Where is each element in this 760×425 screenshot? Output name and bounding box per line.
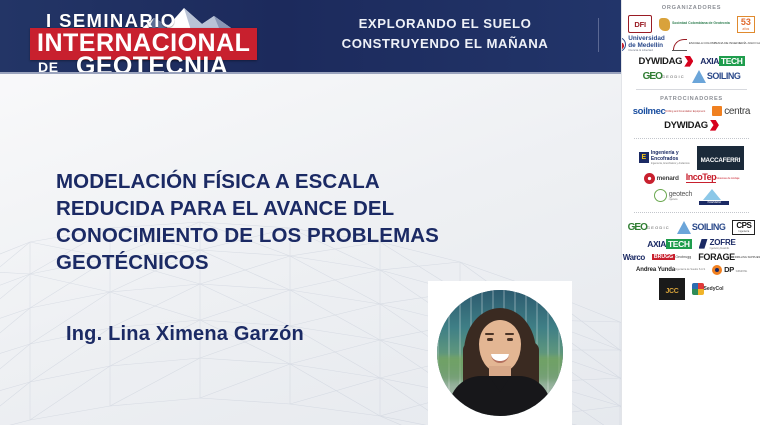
logo-dp-surveying[interactable]: DP SURVEYING (712, 265, 747, 275)
sedycol-square-icon (692, 283, 704, 295)
logo-soiling2-label: SOILING (692, 222, 726, 232)
portrait-eye-right (507, 338, 513, 341)
logo-ingenc-label: Ingeniería y Encofrados Ingeniería, Enco… (651, 150, 690, 165)
organizer-row: DFI Sociedad Colombiana de Geotecnia 53 … (622, 15, 760, 33)
logo-brugg-label: BRUGG (652, 254, 675, 260)
logo-warco-label: Warco (623, 253, 645, 262)
speaker-portrait-card (428, 281, 572, 425)
logo-53-sub: años (741, 27, 751, 31)
dywidag-arrow-icon (684, 56, 693, 67)
logo-forage[interactable]: FORAGE DRILLING SUPPLIES (698, 253, 760, 262)
logo-geodic-sponsor[interactable]: GEO GEODIC (628, 222, 670, 233)
logo-soiling[interactable]: SOILING (692, 70, 741, 83)
sponsor-tier-divider (634, 138, 749, 139)
logo-andrea-label: Andrea Yunda (636, 267, 675, 273)
logo-53-anos[interactable]: 53 años (737, 16, 755, 33)
sponsors-sidebar: ORGANIZADORES DFI Sociedad Colombiana de… (621, 0, 760, 425)
jcc-box: JCC (659, 278, 684, 300)
curve-icon (672, 38, 687, 51)
geotech-circle-icon (654, 189, 667, 202)
logo-sedycol[interactable]: SedyCol (692, 283, 724, 295)
tagline-line-2: CONSTRUYENDO EL MAÑANA (300, 34, 590, 54)
logo-zofre[interactable]: ZOFRE Ingeniería y Desarrollo (699, 238, 736, 250)
portrait-eye-left (487, 338, 493, 341)
sponsor-tier-divider (634, 212, 749, 213)
logo-incotep-label: IncoTep (686, 173, 716, 183)
title-line-3: CONOCIMIENTO DE LOS PROBLEMAS (56, 222, 476, 249)
logo-maccaferri-label: MACCAFERRI (701, 157, 741, 164)
organizer-row: GEO GEODIC SOILING (622, 70, 760, 83)
sponsors-heading: PATROCINADORES (622, 96, 760, 102)
sponsor-row: AXIA TECH ZOFRE Ingeniería y Desarrollo (622, 238, 760, 250)
tagline-line-1: EXPLORANDO EL SUELO (300, 14, 590, 34)
logo-geodic-sub: GEODIC (662, 74, 685, 79)
university-seal-icon (621, 37, 626, 52)
logo-ingenc-sub: Ingeniería, Encofrados y Andamios (651, 162, 690, 165)
logo-cps-label: CPS (736, 222, 751, 230)
menard-circle-icon (644, 173, 655, 184)
logo-dywidag-label: DYWIDAG (638, 56, 682, 67)
logo-zofre-sub: Ingeniería y Desarrollo (710, 247, 736, 250)
logo-geotech-sub: ingeniería (669, 198, 693, 201)
logo-maccaferri[interactable]: MACCAFERRI (697, 146, 745, 170)
logo-warco[interactable]: Warco (623, 253, 645, 262)
logo-axiatech-sponsor[interactable]: AXIA TECH (647, 239, 691, 249)
logo-soilmec-label: soilmec (633, 106, 666, 117)
logo-escuela-colombiana-ingenieria[interactable]: ESCUELA COLOMBIANA DE INGENIERÍA JULIO G… (672, 38, 760, 51)
zofre-slash-icon (699, 239, 708, 249)
logo-menard-label: menard (657, 175, 679, 182)
sponsor-row: JCC SedyCol (622, 278, 760, 300)
logo-zofre-text: ZOFRE (710, 238, 736, 247)
speaker-portrait-photo (437, 290, 563, 416)
logo-axiatech-label2: TECH (719, 56, 745, 66)
portrait-eyebrow-right (505, 333, 514, 335)
logo-soilmec-sub: Drilling and Foundation Equipment (665, 110, 705, 113)
slide-main-area: I SEMINARIO INTERNACIONAL DE GEOTECNIA E… (0, 0, 621, 425)
logo-soiling-sponsor[interactable]: SOILING (677, 221, 726, 234)
logo-geotech[interactable]: geotech ingeniería (654, 189, 693, 202)
organizer-row: DYWIDAG AXIA TECH (622, 56, 760, 67)
mountain-peak-icon (703, 189, 721, 200)
logo-geodic2-sub: GEODIC (647, 225, 670, 230)
logo-dp-label: DP SURVEYING (724, 265, 747, 274)
logo-geodic2-label: GEO (628, 222, 647, 233)
logo-dywidag[interactable]: DYWIDAG (638, 56, 693, 67)
logo-centra-label: centra (724, 106, 750, 117)
logo-dfi-label: DFI (634, 20, 645, 29)
logo-andrea-sub: Ingeniería de Suelos S.A.S (675, 268, 705, 271)
header-underline (0, 72, 621, 74)
logo-centra[interactable]: centra (712, 106, 750, 117)
logo-axiatech2-label2: TECH (666, 239, 692, 249)
portrait-eyebrow-left (485, 333, 494, 335)
dfi-icon: DFI (628, 15, 652, 33)
section-divider (636, 89, 747, 90)
logo-jcc-label: JCC (665, 288, 678, 295)
organizers-heading: ORGANIZADORES (622, 5, 760, 11)
event-logo-lockup: I SEMINARIO INTERNACIONAL DE GEOTECNIA (24, 4, 256, 70)
logo-53-number: 53 (741, 18, 751, 27)
sponsor-row: Warco BRUGG Geobrugg FORAGE DRILLING SUP… (622, 253, 760, 262)
logo-dywidag-sponsor[interactable]: DYWIDAG (664, 120, 719, 131)
logo-line-geotecnia: GEOTECNIA (76, 52, 228, 72)
logo-axiatech2-label: AXIA (647, 239, 666, 249)
dywidag-arrow-icon (710, 120, 719, 131)
logo-menard[interactable]: menard (644, 173, 679, 184)
logo-geotech-label: geotech ingeniería (669, 191, 693, 201)
title-line-1: MODELACIÓN FÍSICA A ESCALA (56, 168, 476, 195)
event-tagline: EXPLORANDO EL SUELO CONSTRUYENDO EL MAÑA… (300, 14, 590, 54)
logo-cps-sub: Ingeniería (736, 230, 751, 233)
logo-dywidag-sponsor-label: DYWIDAG (664, 120, 708, 131)
logo-geodic[interactable]: GEO GEODIC (643, 71, 685, 82)
portrait-face (479, 320, 521, 372)
logo-ingenieria-encofrados[interactable]: E Ingeniería y Encofrados Ingeniería, En… (639, 150, 690, 165)
logo-forage-label: FORAGE (698, 253, 735, 262)
house-icon (692, 70, 706, 83)
logo-montanas-label: INGENIERÍA (699, 201, 729, 205)
logo-dp-text: DP (724, 265, 734, 274)
ie-monogram-icon: E (639, 152, 649, 163)
logo-universidad-de-medellin[interactable]: Universidad de Medellín Ciencia & Libert… (621, 36, 665, 53)
logo-scg-label: Sociedad Colombiana de Geotecnia (672, 22, 730, 26)
house-icon (677, 221, 691, 234)
montanas-bar: INGENIERÍA (699, 201, 729, 205)
anniversary-badge: 53 años (737, 16, 755, 33)
logo-dfi[interactable]: DFI (628, 15, 652, 33)
sponsor-row: soilmec Drilling and Foundation Equipmen… (622, 106, 760, 117)
header-vertical-divider (598, 18, 599, 52)
logo-eci-label: ESCUELA COLOMBIANA DE INGENIERÍA JULIO G… (689, 42, 760, 46)
cps-box: CPS Ingeniería (732, 220, 755, 235)
logo-incotep-sub: Sistemas de Anclaje (716, 177, 739, 180)
logo-axiatech[interactable]: AXIA TECH (700, 56, 744, 66)
logo-geotech-text: geotech (669, 191, 693, 198)
logo-montanas[interactable]: INGENIERÍA (699, 187, 729, 205)
page-title: MODELACIÓN FÍSICA A ESCALA REDUCIDA PARA… (56, 168, 476, 276)
logo-cps[interactable]: CPS Ingeniería (732, 220, 755, 235)
maccaferri-box: MACCAFERRI (697, 146, 745, 170)
logo-brugg-sub: Geobrugg (675, 255, 691, 259)
logo-geodic-label: GEO (643, 71, 662, 82)
logo-zofre-label: ZOFRE Ingeniería y Desarrollo (710, 238, 736, 250)
logo-line-de: DE (38, 59, 59, 72)
logo-brugg[interactable]: BRUGG Geobrugg (652, 254, 691, 260)
sponsor-row: DYWIDAG (622, 120, 760, 131)
sponsor-row: GEO GEODIC SOILING CPS Ingeniería (622, 220, 760, 235)
logo-incotep[interactable]: IncoTep Sistemas de Anclaje (686, 173, 740, 183)
presentation-slide: I SEMINARIO INTERNACIONAL DE GEOTECNIA E… (0, 0, 760, 425)
logo-soiling-label: SOILING (707, 71, 741, 81)
logo-sedycol-label: SedyCol (704, 286, 724, 292)
logo-jcc[interactable]: JCC (659, 278, 684, 300)
logo-andrea-yunda[interactable]: Andrea Yunda Ingeniería de Suelos S.A.S (636, 267, 705, 273)
sponsor-row: E Ingeniería y Encofrados Ingeniería, En… (622, 146, 760, 170)
logo-sociedad-colombiana-geotecnia[interactable]: Sociedad Colombiana de Geotecnia (659, 18, 730, 31)
centra-square-icon (712, 106, 722, 116)
logo-dp-sub: SURVEYING (736, 270, 747, 273)
colombia-map-icon (659, 18, 670, 31)
sponsor-row: geotech ingeniería INGENIERÍA (622, 187, 760, 205)
header-band: I SEMINARIO INTERNACIONAL DE GEOTECNIA E… (0, 0, 621, 72)
sponsor-row: menard IncoTep Sistemas de Anclaje (622, 173, 760, 184)
logo-forage-sub: DRILLING SUPPLIES (735, 256, 760, 259)
title-line-4: GEOTÉCNICOS (56, 249, 476, 276)
organizer-row: Universidad de Medellín Ciencia & Libert… (622, 36, 760, 53)
logo-axiatech-label: AXIA (700, 56, 719, 66)
title-line-2: REDUCIDA PARA EL AVANCE DEL (56, 195, 476, 222)
logo-soilmec[interactable]: soilmec Drilling and Foundation Equipmen… (633, 106, 705, 117)
logo-udem-label: Universidad de Medellín Ciencia & Libert… (628, 36, 665, 53)
dp-circle-icon (712, 265, 722, 275)
sponsor-row: Andrea Yunda Ingeniería de Suelos S.A.S … (622, 265, 760, 275)
mountain-chart-icon: INGENIERÍA (699, 187, 729, 205)
logo-udem-sub: Ciencia & Libertad (628, 49, 665, 52)
presenter-name: Ing. Lina Ximena Garzón (66, 323, 304, 346)
